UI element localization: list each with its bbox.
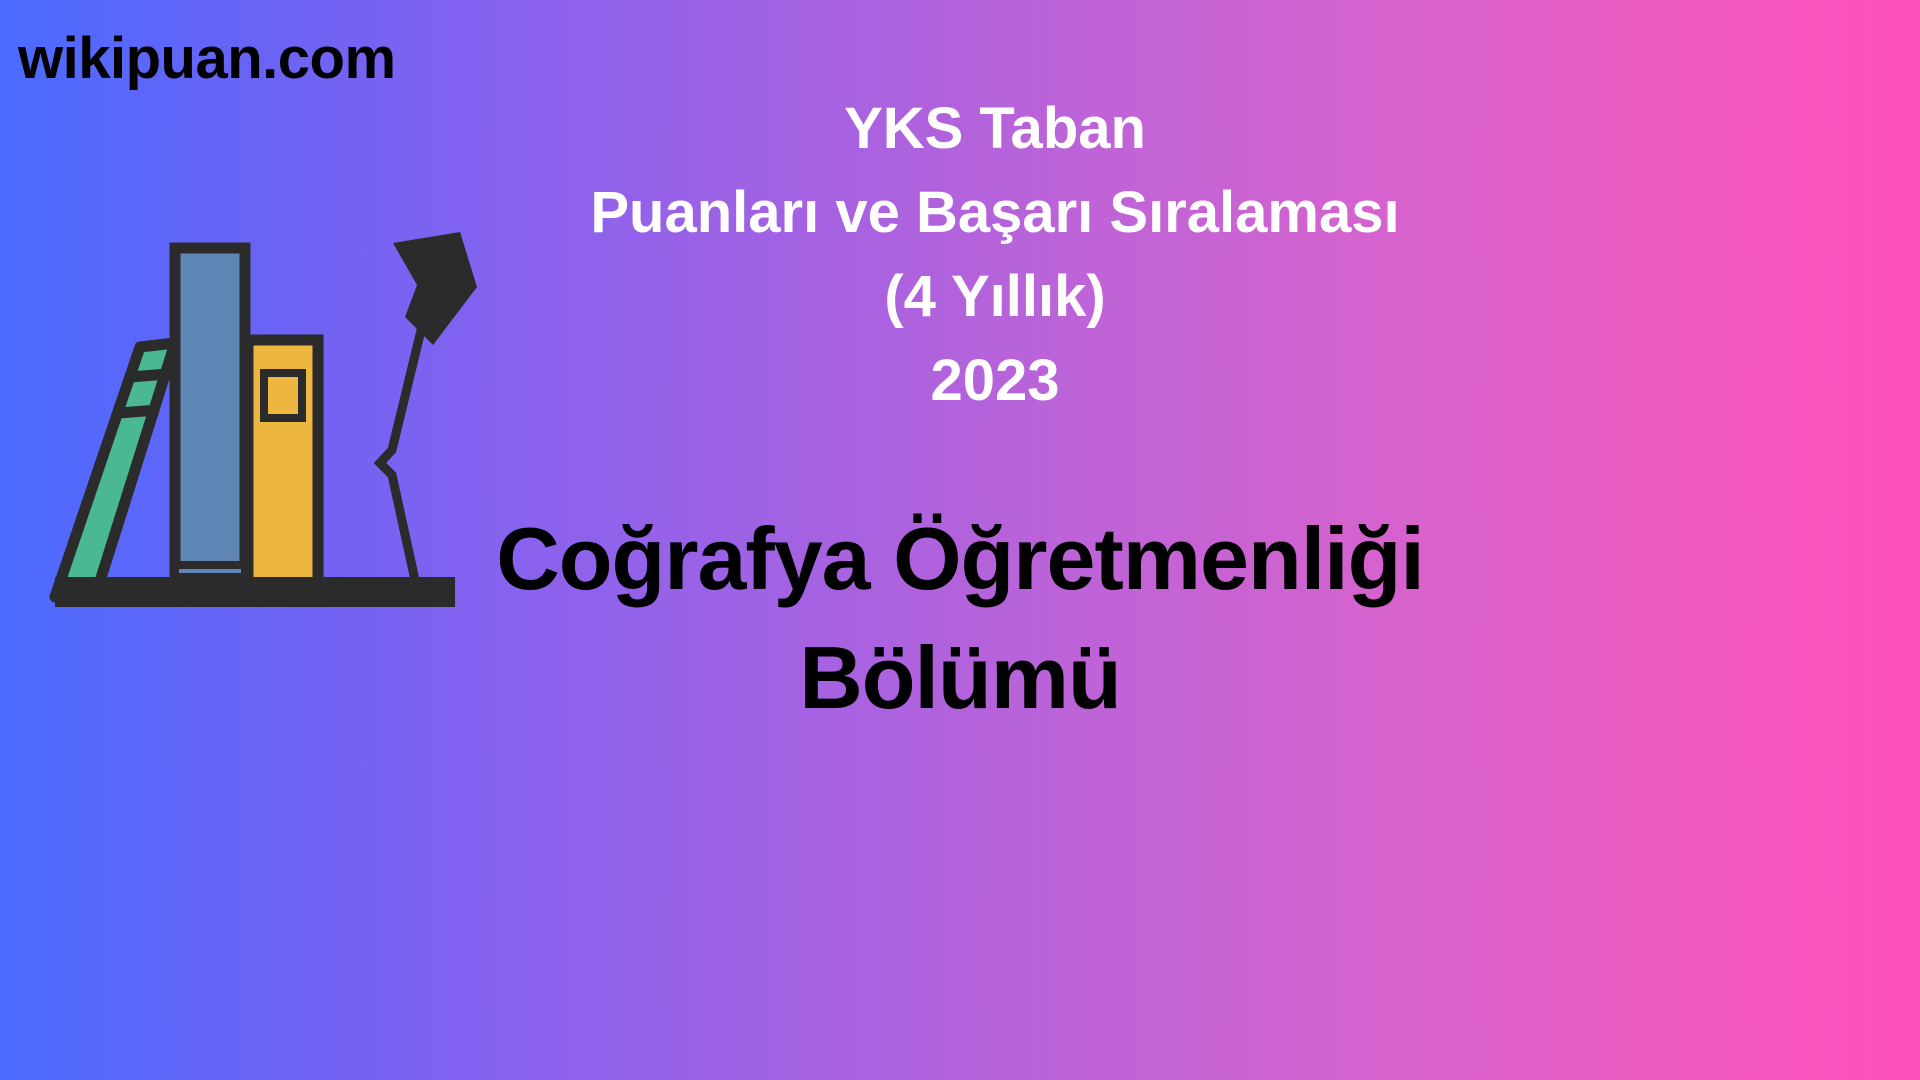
title-line-2: Puanları ve Başarı Sıralaması (430, 184, 1560, 242)
heading-line-2: Bölümü (0, 619, 1920, 738)
site-watermark: wikipuan.com (18, 30, 396, 88)
banner-subtitle-block: YKS Taban Puanları ve Başarı Sıralaması … (430, 100, 1560, 410)
title-line-4-year: 2023 (430, 352, 1560, 410)
banner-root: wikipuan.com (0, 0, 1920, 1080)
title-line-3: (4 Yıllık) (430, 268, 1560, 326)
title-line-1: YKS Taban (430, 100, 1560, 158)
heading-line-1: Coğrafya Öğretmenliği (0, 500, 1920, 619)
program-name-heading: Coğrafya Öğretmenliği Bölümü (0, 500, 1920, 738)
